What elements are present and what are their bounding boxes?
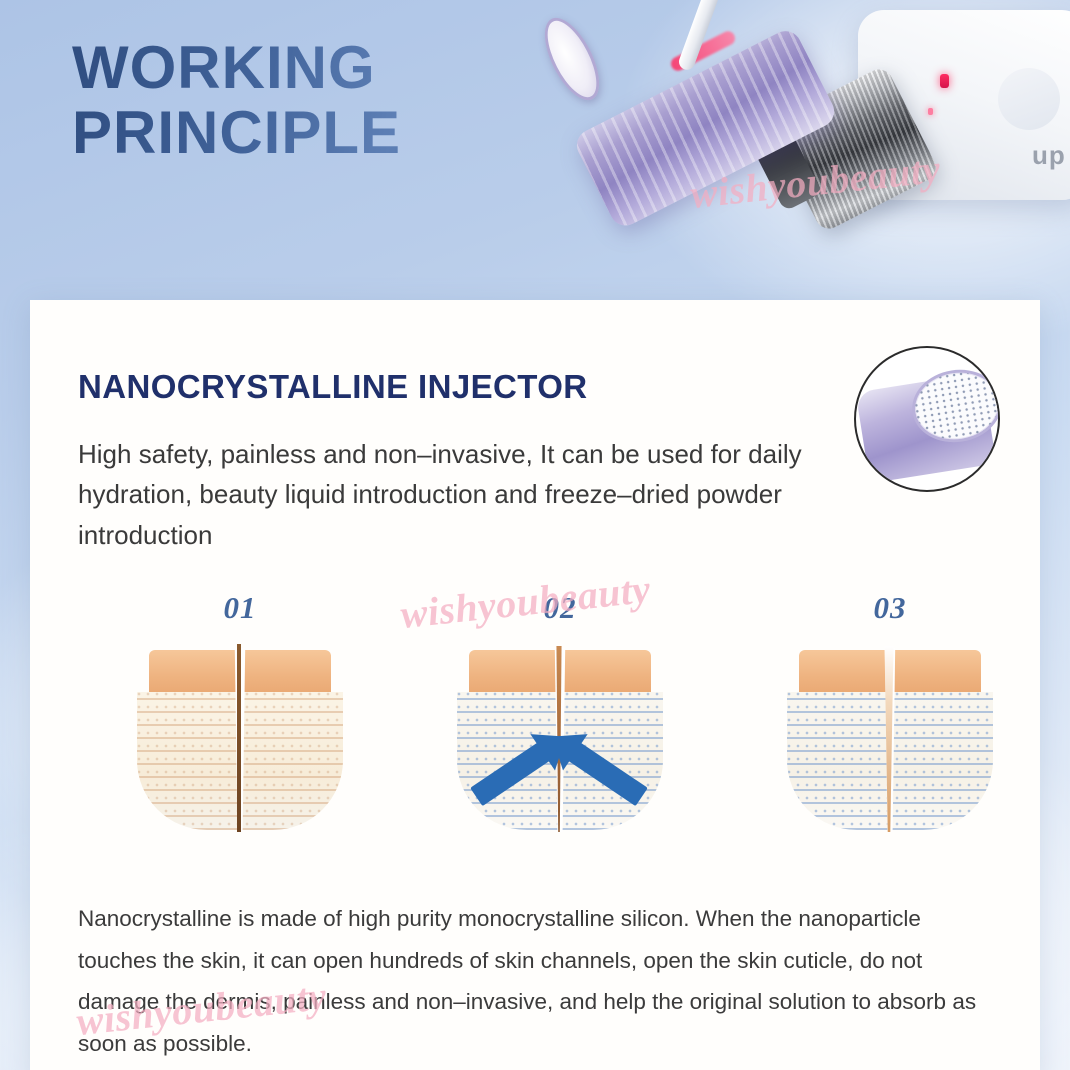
device-nanocrystalline-tip <box>534 10 610 108</box>
card-body-paragraph: Nanocrystalline is made of high purity m… <box>78 898 998 1065</box>
card-heading: NANOCRYSTALLINE INJECTOR <box>78 368 588 406</box>
skin-cross-section <box>451 644 669 836</box>
step-illustration-02 <box>451 644 669 836</box>
content-card: NANOCRYSTALLINE INJECTOR High safety, pa… <box>30 300 1040 1070</box>
device-photo: up <box>540 0 1070 292</box>
step-number: 02 <box>410 590 710 626</box>
card-lead-paragraph: High safety, painless and non–invasive, … <box>78 434 848 555</box>
step-item-02: 02 <box>410 590 710 836</box>
hair-follicle <box>237 644 241 832</box>
skin-cross-section <box>781 644 999 836</box>
device-indicator-light-small <box>928 108 933 115</box>
page-title: WORKING PRINCIPLE <box>72 36 592 166</box>
skin-cross-section <box>131 644 349 836</box>
step-item-01: 01 <box>90 590 390 836</box>
step-number: 03 <box>740 590 1040 626</box>
device-brand-label: up <box>1032 140 1066 171</box>
step-illustration-01 <box>131 644 349 836</box>
step-number: 01 <box>90 590 390 626</box>
step-illustration-03 <box>781 644 999 836</box>
page-title-line-1: WORKING <box>72 36 592 101</box>
marketing-page: WORKING PRINCIPLE up NANOCRYSTALLINE INJ… <box>0 0 1070 1070</box>
step-item-03: 03 <box>740 590 1040 836</box>
tip-closeup-inset <box>854 346 1000 492</box>
page-title-line-2: PRINCIPLE <box>72 101 592 166</box>
steps-row: 01 02 <box>70 590 1000 860</box>
device-indicator-light <box>940 74 949 88</box>
